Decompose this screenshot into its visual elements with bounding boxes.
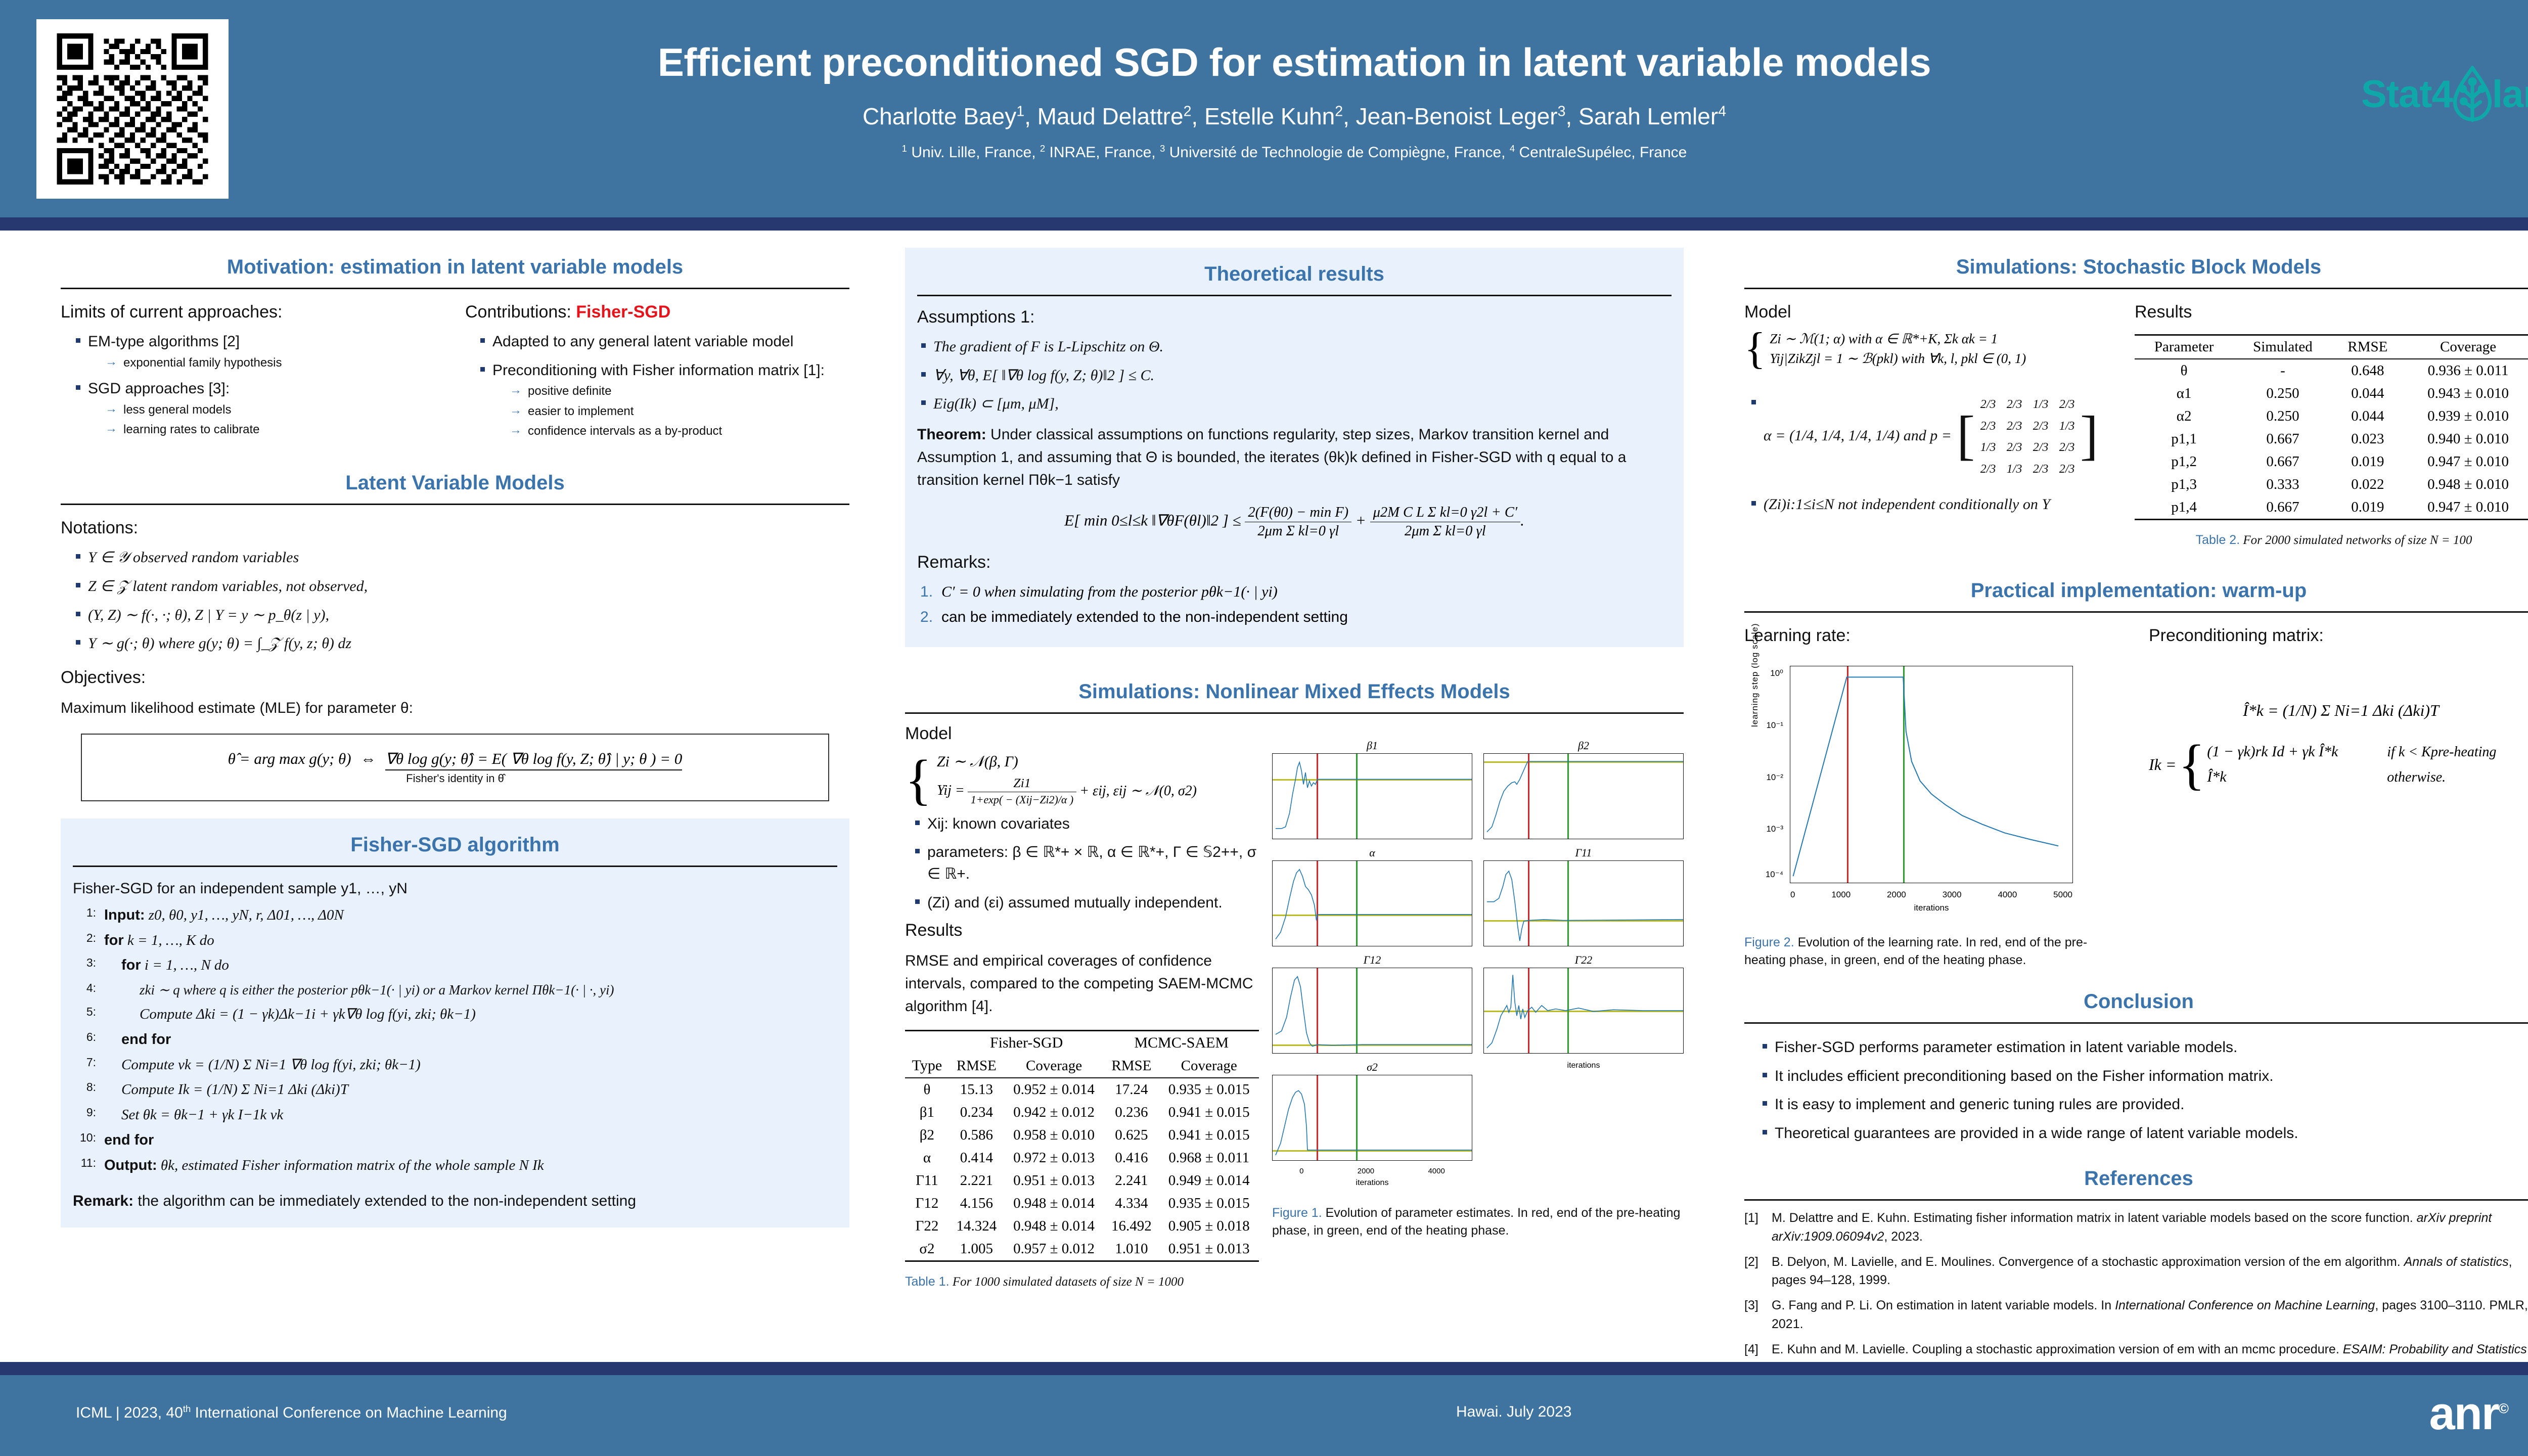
table-row: β10.2340.942 ± 0.0120.2360.941 ± 0.015 bbox=[905, 1101, 1259, 1124]
cell: 0.952 ± 0.014 bbox=[1004, 1078, 1104, 1101]
ref-text: B. Delyon, M. Lavielle, and E. Moulines.… bbox=[1772, 1253, 2528, 1290]
line-number: 5: bbox=[73, 1002, 104, 1027]
cell: 1/3 bbox=[2054, 418, 2080, 435]
ref-key: [1] bbox=[1744, 1209, 1772, 1246]
mini-plot-sigma2: σ2 0 2000 bbox=[1272, 1061, 1472, 1161]
col-rmse-2: RMSE bbox=[1104, 1055, 1159, 1078]
col-cov-1: Coverage bbox=[1004, 1055, 1104, 1078]
cell: 15.13 bbox=[949, 1078, 1004, 1101]
leaf-icon bbox=[2450, 66, 2495, 122]
table-row: Γ112.2210.951 ± 0.0132.2410.949 ± 0.014 bbox=[905, 1169, 1259, 1192]
table-row: p1,30.3330.0220.948 ± 0.010 bbox=[2135, 473, 2528, 496]
section-motivation: Motivation: estimation in latent variabl… bbox=[61, 248, 849, 446]
list-item: parameters: β ∈ ℝ*+ × ℝ, α ∈ ℝ*+, Γ ∈ 𝕊2… bbox=[913, 842, 1259, 885]
period: . bbox=[1520, 511, 1524, 529]
cell: 2/3 bbox=[1975, 396, 2001, 413]
column-left: Motivation: estimation in latent variabl… bbox=[61, 248, 849, 1238]
col-rmse: RMSE bbox=[2332, 335, 2404, 359]
cell: 0.019 bbox=[2332, 496, 2404, 520]
x-tick: 4000 bbox=[1428, 1167, 1444, 1175]
eq2-cases: (1 − γk)rk Id + γk Î*k if k < Kpre-heati… bbox=[2207, 743, 2496, 786]
cell: 0.023 bbox=[2332, 428, 2404, 450]
case-row: (1 − γk)rk Id + γk Î*k if k < Kpre-heati… bbox=[2207, 743, 2496, 760]
qr-code-icon bbox=[51, 33, 214, 185]
list-item: Y ∈ 𝒴 observed random variables bbox=[74, 547, 849, 569]
list-item-label: C′ = 0 when simulating from the posterio… bbox=[941, 583, 1278, 600]
cell: p1,3 bbox=[2135, 473, 2233, 496]
list-item: (Zi)i:1≤i≤N not independent conditionall… bbox=[1749, 494, 2118, 516]
cell: 0.019 bbox=[2332, 450, 2404, 473]
contributions-heading: Contributions: Fisher-SGD bbox=[465, 302, 849, 322]
case-expr: (1 − γk)rk Id + γk Î*k bbox=[2207, 743, 2374, 760]
table-2-caption: Table 2. For 2000 simulated networks of … bbox=[2135, 531, 2528, 549]
cell: - bbox=[2233, 359, 2332, 382]
y-tick: 10⁻² bbox=[1766, 772, 1783, 783]
caption-label: Figure 1. bbox=[1272, 1206, 1322, 1220]
plot-area bbox=[1483, 753, 1684, 839]
line-content: zki ∼ q where q is either the posterior … bbox=[104, 978, 837, 1002]
line-number: 7: bbox=[73, 1053, 104, 1078]
objectives-heading: Objectives: bbox=[61, 668, 849, 688]
reference-list: [1]M. Delattre and E. Kuhn. Estimating f… bbox=[1744, 1209, 2528, 1377]
poster-footer: ICML | 2023, 40th International Conferen… bbox=[0, 1375, 2528, 1456]
remarks-heading: Remarks: bbox=[917, 553, 1672, 572]
footer-conference: ICML | 2023, 40th International Conferen… bbox=[76, 1403, 507, 1422]
algorithm-intro: Fisher-SGD for an independent sample y1,… bbox=[73, 877, 837, 900]
cell: 0.667 bbox=[2233, 496, 2332, 520]
pc-heading: Preconditioning matrix: bbox=[2149, 626, 2528, 646]
list-item: C′ = 0 when simulating from the posterio… bbox=[919, 581, 1672, 603]
poster-root: Efficient preconditioned SGD for estimat… bbox=[0, 0, 2528, 1456]
ref-venue: Annals of statistics bbox=[2404, 1255, 2509, 1269]
table-row: θ-0.6480.936 ± 0.011 bbox=[2135, 359, 2528, 382]
section-title-lvm: Latent Variable Models bbox=[61, 464, 849, 504]
caption-text: Evolution of the learning rate. In red, … bbox=[1744, 935, 2087, 967]
cell: 0.414 bbox=[949, 1147, 1004, 1169]
cell: β1 bbox=[905, 1101, 949, 1124]
line-text: z0, θ0, y1, …, yN, r, Δ01, …, Δ0N bbox=[145, 907, 344, 923]
matrix-rows: 2/32/31/32/3 2/32/32/31/3 1/32/32/32/3 bbox=[1975, 393, 2080, 479]
model-line-1: Zi ∼ 𝒩(β, Γ) bbox=[937, 753, 1197, 770]
list-item: Fisher-SGD performs parameter estimation… bbox=[1760, 1037, 2528, 1059]
cell: θ bbox=[2135, 359, 2233, 382]
section-references: References [1]M. Delattre and E. Kuhn. E… bbox=[1744, 1159, 2528, 1377]
learning-rate-panel: Learning rate: learning step (log scale)… bbox=[1744, 626, 2129, 969]
cell: 0.935 ± 0.015 bbox=[1159, 1078, 1259, 1101]
matrix-row: 2/31/32/32/3 bbox=[1975, 458, 2080, 479]
algorithm-line: 6:end for bbox=[73, 1027, 837, 1053]
table-row: Γ2214.3240.948 ± 0.01416.4920.905 ± 0.01… bbox=[905, 1215, 1259, 1238]
nlme-bullets: Xij: known covariates parameters: β ∈ ℝ*… bbox=[913, 813, 1259, 914]
numerator: Zi1 bbox=[968, 776, 1076, 792]
cell: 0.234 bbox=[949, 1101, 1004, 1124]
cell: θ bbox=[905, 1078, 949, 1101]
line-keyword: for bbox=[104, 932, 124, 948]
theorem-text: Under classical assumptions on functions… bbox=[917, 426, 1626, 488]
table-row: α20.2500.0440.939 ± 0.010 bbox=[2135, 405, 2528, 428]
series-line bbox=[1484, 968, 1683, 1053]
list-item: (Zi) and (εi) assumed mutually independe… bbox=[913, 892, 1259, 914]
x-tick: 2000 bbox=[1887, 890, 1906, 900]
x-tick: 5000 bbox=[2053, 890, 2072, 900]
cell: β2 bbox=[905, 1124, 949, 1147]
table-row: Γ124.1560.948 ± 0.0144.3340.935 ± 0.015 bbox=[905, 1192, 1259, 1215]
cell: 2/3 bbox=[2027, 461, 2054, 478]
sbm-model-lines: Zi ∼ ℳ(1; α) with α ∈ ℝ*+K, Σk αk = 1 Yi… bbox=[1770, 331, 2026, 367]
ref-main: M. Delattre and E. Kuhn. Estimating fish… bbox=[1772, 1211, 2417, 1225]
section-algorithm: Fisher-SGD algorithm Fisher-SGD for an i… bbox=[61, 818, 849, 1227]
plot-title: β2 bbox=[1483, 739, 1684, 752]
list-item: α = (1/4, 1/4, 1/4, 1/4) and p = [ 2/32/… bbox=[1749, 393, 2118, 479]
matrix-row: 2/32/31/32/3 bbox=[1975, 393, 2080, 415]
section-lvm: Latent Variable Models Notations: Y ∈ 𝒴 … bbox=[61, 464, 849, 801]
divider bbox=[73, 866, 837, 867]
bound-lhs: E[ min 0≤l≤k ‖∇θF(θl)‖2 ] ≤ bbox=[1064, 511, 1241, 529]
list-item: Z ∈ 𝒵 latent random variables, not obser… bbox=[74, 576, 849, 598]
bound-term-2: μ2M C L Σ kl=0 γ2l + C′ 2μm Σ kl=0 γl bbox=[1370, 505, 1521, 539]
list-item: ∀y, ∀θ, E[ ‖∇θ log f(y, Z; θ)‖2 ] ≤ C. bbox=[919, 365, 1672, 387]
table-row: α10.2500.0440.943 ± 0.010 bbox=[2135, 382, 2528, 405]
cell: 2.241 bbox=[1104, 1169, 1159, 1192]
ref-key: [3] bbox=[1744, 1296, 1772, 1333]
bound-equation: E[ min 0≤l≤k ‖∇θF(θl)‖2 ] ≤ 2(F(θ0) − mi… bbox=[917, 505, 1672, 539]
cell: 0.951 ± 0.013 bbox=[1004, 1169, 1104, 1192]
x-tick: 1000 bbox=[1831, 890, 1850, 900]
eq2-lhs: Ik = bbox=[2149, 755, 2176, 774]
footer-location: Hawai. July 2023 bbox=[1456, 1403, 1571, 1421]
sub-list: exponential family hypothesis bbox=[105, 355, 445, 371]
list-item: Xij: known covariates bbox=[913, 813, 1259, 835]
mle-iff: ⇔ bbox=[355, 750, 381, 768]
alpha-definition: α = (1/4, 1/4, 1/4, 1/4) and p = bbox=[1764, 425, 1952, 447]
x-tick-labels: 0 2000 4000 bbox=[1273, 1167, 1472, 1175]
matrix-row: 2/32/32/31/3 bbox=[1975, 415, 2080, 436]
header-stripe bbox=[0, 217, 2528, 231]
cell: 16.492 bbox=[1104, 1215, 1159, 1238]
cell: 0.941 ± 0.015 bbox=[1159, 1101, 1259, 1124]
cell: 2/3 bbox=[2054, 396, 2080, 413]
results-heading: Results bbox=[905, 921, 1259, 940]
mini-plot-beta2: β2 bbox=[1483, 739, 1684, 839]
denominator: 2μm Σ kl=0 γl bbox=[1370, 522, 1521, 539]
model-line-2-lhs: Yij = bbox=[937, 783, 965, 799]
numerator: 2(F(θ0) − min F) bbox=[1245, 505, 1351, 522]
cell: 1/3 bbox=[2001, 461, 2027, 478]
ref-main: B. Delyon, M. Lavielle, and E. Moulines.… bbox=[1772, 1255, 2404, 1269]
affiliation-list: 1 Univ. Lille, France, 2 INRAE, France, … bbox=[384, 143, 2204, 161]
nlme-left: Model { Zi ∼ 𝒩(β, Γ) Yij = Zi1 1+exp( − … bbox=[905, 724, 1259, 1291]
cell: 0.947 ± 0.010 bbox=[2403, 496, 2528, 520]
table-1: Type Fisher-SGD MCMC-SAEM RMSE Coverage … bbox=[905, 1030, 1259, 1262]
cell: 4.156 bbox=[949, 1192, 1004, 1215]
table-row: Parameter Simulated RMSE Coverage bbox=[2135, 335, 2528, 359]
algorithm-line: 5:Compute Δki = (1 − γk)Δk−1i + γk∇θ log… bbox=[73, 1002, 837, 1027]
caption-label: Table 1. bbox=[905, 1275, 950, 1289]
cell: 2/3 bbox=[2001, 396, 2027, 413]
bracket-right-icon: ] bbox=[2080, 420, 2098, 452]
logo-text-stat4: Stat4 bbox=[2361, 72, 2453, 116]
cell: 2/3 bbox=[2027, 418, 2054, 435]
x-axis-label: iterations bbox=[1484, 1061, 1683, 1070]
cell: 0.236 bbox=[1104, 1101, 1159, 1124]
cell: p1,1 bbox=[2135, 428, 2233, 450]
results-text: RMSE and empirical coverages of confiden… bbox=[905, 949, 1259, 1018]
list-item: The gradient of F is L-Lipschitz on Θ. bbox=[919, 336, 1672, 358]
list-item: [2]B. Delyon, M. Lavielle, and E. Moulin… bbox=[1744, 1253, 2528, 1290]
cell: 2/3 bbox=[2027, 439, 2054, 456]
cell: 0.939 ± 0.010 bbox=[2403, 405, 2528, 428]
cell: 17.24 bbox=[1104, 1078, 1159, 1101]
cell: 0.958 ± 0.010 bbox=[1004, 1124, 1104, 1147]
cell: 0.586 bbox=[949, 1124, 1004, 1147]
brace-icon: { bbox=[905, 759, 932, 801]
objectives-text: Maximum likelihood estimate (MLE) for pa… bbox=[61, 697, 849, 719]
algorithm-line: 8:Compute Ik = (1/N) Σ Ni=1 Δki (Δki)T bbox=[73, 1077, 837, 1103]
cell: 0.250 bbox=[2233, 405, 2332, 428]
y-tick: 10⁻⁴ bbox=[1766, 870, 1783, 880]
cell: 0.625 bbox=[1104, 1124, 1159, 1147]
denominator: 1+exp( − (Xij−Zi2)/α ) bbox=[968, 792, 1076, 806]
col-group-mcmc: MCMC-SAEM bbox=[1104, 1031, 1259, 1055]
algorithm-line: 9:Set θk = θk−1 + γk I−1k vk bbox=[73, 1103, 837, 1128]
limits-heading: Limits of current approaches: bbox=[61, 302, 445, 322]
cell: 1.005 bbox=[949, 1238, 1004, 1261]
cell: 0.951 ± 0.013 bbox=[1159, 1238, 1259, 1261]
mini-plot-beta1: β1 bbox=[1272, 739, 1472, 839]
figure-1-grid: β1 β2 bbox=[1272, 739, 1684, 1161]
list-item-label: Preconditioning with Fisher information … bbox=[492, 362, 825, 379]
cell: p1,4 bbox=[2135, 496, 2233, 520]
bound-term-1: 2(F(θ0) − min F) 2μm Σ kl=0 γl bbox=[1245, 505, 1351, 539]
mini-plot-gamma22: Γ22 iterations bbox=[1483, 953, 1684, 1054]
series-line bbox=[1484, 861, 1683, 946]
y-tick: 10⁻¹ bbox=[1766, 720, 1783, 731]
list-item: Theoretical guarantees are provided in a… bbox=[1760, 1123, 2528, 1145]
cell: 0.667 bbox=[2233, 428, 2332, 450]
bracket-left-icon: [ bbox=[1957, 420, 1975, 452]
x-tick: 4000 bbox=[1998, 890, 2017, 900]
caption-label: Figure 2. bbox=[1744, 935, 1794, 949]
notations-heading: Notations: bbox=[61, 518, 849, 538]
table-row: β20.5860.958 ± 0.0100.6250.941 ± 0.015 bbox=[905, 1124, 1259, 1147]
section-title-sbm: Simulations: Stochastic Block Models bbox=[1744, 248, 2528, 288]
figure-2-plot: learning step (log scale) 10⁰ 10⁻¹ 10⁻² … bbox=[1790, 666, 2073, 883]
table-1-caption: Table 1. For 1000 simulated datasets of … bbox=[905, 1273, 1259, 1291]
ref-main: G. Fang and P. Li. On estimation in late… bbox=[1772, 1298, 2115, 1312]
limits-list: EM-type algorithms [2] exponential famil… bbox=[74, 331, 445, 438]
line-content: for i = 1, …, N do bbox=[104, 953, 837, 978]
line-text: k = 1, …, K do bbox=[124, 932, 214, 948]
plot-area bbox=[1483, 860, 1684, 946]
divider bbox=[1744, 611, 2528, 613]
plot-title: Γ11 bbox=[1483, 846, 1684, 859]
table-row: p1,40.6670.0190.947 ± 0.010 bbox=[2135, 496, 2528, 520]
cell: 0.905 ± 0.018 bbox=[1159, 1215, 1259, 1238]
cell: 2/3 bbox=[1975, 461, 2001, 478]
cell: 0.948 ± 0.014 bbox=[1004, 1215, 1104, 1238]
plot-title: σ2 bbox=[1272, 1061, 1472, 1074]
sbm-results: Results Parameter Simulated RMSE Coverag… bbox=[2135, 302, 2528, 549]
series-line bbox=[1273, 1075, 1472, 1160]
col-group-fisher: Fisher-SGD bbox=[949, 1031, 1104, 1055]
conclusion-list: Fisher-SGD performs parameter estimation… bbox=[1760, 1037, 2528, 1144]
plot-title: Γ22 bbox=[1483, 953, 1684, 967]
limits-panel: Limits of current approaches: EM-type al… bbox=[61, 302, 445, 446]
list-item: confidence intervals as a by-product bbox=[510, 423, 849, 439]
qr-code[interactable] bbox=[36, 19, 229, 199]
figure-1-caption: Figure 1. Evolution of parameter estimat… bbox=[1272, 1204, 1684, 1240]
footer-stripe bbox=[0, 1362, 2528, 1375]
cell: Γ12 bbox=[905, 1192, 949, 1215]
plot-title: β1 bbox=[1272, 739, 1472, 752]
x-tick: 0 bbox=[1299, 1167, 1303, 1175]
contributions-list: Adapted to any general latent variable m… bbox=[478, 331, 849, 439]
col-coverage: Coverage bbox=[2403, 335, 2528, 359]
sub-list: positive definite easier to implement co… bbox=[510, 383, 849, 439]
author-list: Charlotte Baey1, Maud Delattre2, Estelle… bbox=[384, 103, 2204, 130]
list-item: (Y, Z) ∼ f(·, ·; θ), Z | Y = y ∼ p_θ(z |… bbox=[74, 605, 849, 626]
model-fraction: Zi1 1+exp( − (Xij−Zi2)/α ) bbox=[968, 776, 1076, 806]
table-row: σ21.0050.957 ± 0.0121.0100.951 ± 0.013 bbox=[905, 1238, 1259, 1261]
list-item: less general models bbox=[105, 402, 445, 418]
list-item: EM-type algorithms [2] exponential famil… bbox=[74, 331, 445, 371]
cell: 0.044 bbox=[2332, 405, 2404, 428]
column-middle: Theoretical results Assumptions 1: The g… bbox=[905, 248, 1684, 1301]
col-rmse-1: RMSE bbox=[949, 1055, 1004, 1078]
sub-list: less general models learning rates to ca… bbox=[105, 402, 445, 438]
x-axis-label: iterations bbox=[1790, 903, 2072, 913]
brace-icon: { bbox=[1744, 333, 1766, 365]
cell: 0.957 ± 0.012 bbox=[1004, 1238, 1104, 1261]
cell: α2 bbox=[2135, 405, 2233, 428]
line-content: Compute vk = (1/N) Σ Ni=1 ∇θ log f(yi, z… bbox=[104, 1053, 837, 1078]
list-item: exponential family hypothesis bbox=[105, 355, 445, 371]
precond-equation-1: Î*k = (1/N) Σ Ni=1 Δki (Δki)T bbox=[2149, 701, 2528, 720]
cell: 2/3 bbox=[1975, 418, 2001, 435]
cell: 2/3 bbox=[2054, 439, 2080, 456]
cell: Γ22 bbox=[905, 1215, 949, 1238]
cell: 1/3 bbox=[2027, 396, 2054, 413]
x-tick: 0 bbox=[1790, 890, 1795, 900]
contributions-highlight: Fisher-SGD bbox=[576, 302, 670, 322]
theorem-paragraph: Theorem: Under classical assumptions on … bbox=[917, 423, 1672, 491]
plot-area bbox=[1272, 860, 1472, 946]
notations-list: Y ∈ 𝒴 observed random variables Z ∈ 𝒵 la… bbox=[74, 547, 849, 654]
cell: σ2 bbox=[905, 1238, 949, 1261]
model-line-2: Yij|ZikZjl = 1 ∼ ℬ(pkl) with ∀k, l, pkl … bbox=[1770, 351, 2026, 367]
cell: Γ11 bbox=[905, 1169, 949, 1192]
list-item: Adapted to any general latent variable m… bbox=[478, 331, 849, 353]
line-keyword: Input: bbox=[104, 907, 145, 923]
cell: 0.022 bbox=[2332, 473, 2404, 496]
page-title: Efficient preconditioned SGD for estimat… bbox=[384, 40, 2204, 84]
theorem-label: Theorem: bbox=[917, 426, 986, 443]
col-type: Type bbox=[905, 1031, 949, 1078]
list-item-label: (Zi)i:1≤i≤N not independent conditionall… bbox=[1764, 496, 2050, 513]
table-row: α0.4140.972 ± 0.0130.4160.968 ± 0.011 bbox=[905, 1147, 1259, 1169]
divider bbox=[917, 295, 1672, 296]
cell: 0.942 ± 0.012 bbox=[1004, 1101, 1104, 1124]
section-title-practical: Practical implementation: warm-up bbox=[1744, 571, 2528, 611]
cell: 0.941 ± 0.015 bbox=[1159, 1124, 1259, 1147]
plot-area: iterations bbox=[1483, 968, 1684, 1054]
line-content: end for bbox=[104, 1027, 837, 1053]
table-2-head: Parameter Simulated RMSE Coverage bbox=[2135, 335, 2528, 359]
divider bbox=[905, 712, 1684, 714]
model-equations: { Zi ∼ 𝒩(β, Γ) Yij = Zi1 1+exp( − (Xij−Z… bbox=[905, 753, 1259, 806]
cell: 0.935 ± 0.015 bbox=[1159, 1192, 1259, 1215]
ref-venue: International Conference on Machine Lear… bbox=[2115, 1298, 2375, 1312]
model-lines: Zi ∼ 𝒩(β, Γ) Yij = Zi1 1+exp( − (Xij−Zi2… bbox=[937, 753, 1197, 806]
column-right: Simulations: Stochastic Block Models Mod… bbox=[1744, 248, 2528, 1387]
algorithm-line: 7:Compute vk = (1/N) Σ Ni=1 ∇θ log f(yi,… bbox=[73, 1053, 837, 1078]
divider bbox=[1744, 288, 2528, 289]
mini-plot-gamma12: Γ12 bbox=[1272, 953, 1472, 1054]
section-title-conclusion: Conclusion bbox=[1744, 982, 2528, 1022]
table-row: Type Fisher-SGD MCMC-SAEM bbox=[905, 1031, 1259, 1055]
list-item-label: SGD approaches [3]: bbox=[88, 380, 230, 397]
list-item-label: Eig(Ik) ⊂ [μm, μM], bbox=[933, 395, 1059, 412]
case-expr: Î*k bbox=[2207, 768, 2374, 786]
series-line bbox=[1273, 754, 1472, 839]
line-content: for k = 1, …, K do bbox=[104, 928, 837, 953]
mle-rhs: ∇θ log g(y; θ̂) = E( ∇θ log f(y, Z; θ̂) … bbox=[385, 750, 682, 770]
cell: 1/3 bbox=[1975, 439, 2001, 456]
figure-2-caption: Figure 2. Evolution of the learning rate… bbox=[1744, 934, 2129, 969]
table-row: p1,10.6670.0230.940 ± 0.010 bbox=[2135, 428, 2528, 450]
table-row: θ15.130.952 ± 0.01417.240.935 ± 0.015 bbox=[905, 1078, 1259, 1101]
mle-under-caption: Fisher's identity in θ̂ bbox=[95, 772, 815, 785]
line-content: Compute Δki = (1 − γk)Δk−1i + γk∇θ log f… bbox=[104, 1002, 837, 1027]
list-item-label: EM-type algorithms [2] bbox=[88, 333, 240, 350]
list-item: [3]G. Fang and P. Li. On estimation in l… bbox=[1744, 1296, 2528, 1333]
sbm-model-equations: { Zi ∼ ℳ(1; α) with α ∈ ℝ*+K, Σk αk = 1 … bbox=[1744, 331, 2118, 367]
list-item: It is easy to implement and generic tuni… bbox=[1760, 1094, 2528, 1116]
cell: 0.948 ± 0.014 bbox=[1004, 1192, 1104, 1215]
section-theory: Theoretical results Assumptions 1: The g… bbox=[905, 248, 1684, 647]
case-cond: if k < Kpre-heating bbox=[2387, 744, 2496, 760]
cell: 0.968 ± 0.011 bbox=[1159, 1147, 1259, 1169]
line-number: 8: bbox=[73, 1077, 104, 1103]
x-tick-labels: 0 1000 2000 3000 4000 5000 bbox=[1790, 890, 2072, 900]
y-tick: 10⁻³ bbox=[1766, 824, 1783, 834]
table-1-head: Type Fisher-SGD MCMC-SAEM RMSE Coverage … bbox=[905, 1031, 1259, 1078]
logo-text-lant: lant bbox=[2492, 72, 2528, 116]
cell: 0.250 bbox=[2233, 382, 2332, 405]
assumptions-list: The gradient of F is L-Lipschitz on Θ. ∀… bbox=[919, 336, 1672, 415]
line-content: Input: z0, θ0, y1, …, yN, r, Δ01, …, Δ0N bbox=[104, 903, 837, 928]
cell: 0.044 bbox=[2332, 382, 2404, 405]
x-tick: 2000 bbox=[1358, 1167, 1374, 1175]
divider bbox=[1744, 1022, 2528, 1024]
model-line-1: Zi ∼ ℳ(1; α) with α ∈ ℝ*+K, Σk αk = 1 bbox=[1770, 331, 2026, 347]
divider bbox=[1744, 1199, 2528, 1201]
ref-tail: , 2023. bbox=[1884, 1230, 1922, 1244]
series-line bbox=[1790, 666, 2072, 883]
algorithm-listing: Fisher-SGD for an independent sample y1,… bbox=[73, 877, 837, 1212]
precond-equation-2: Ik = { (1 − γk)rk Id + γk Î*k if k < Kpr… bbox=[2149, 743, 2528, 786]
section-conclusion: Conclusion Fisher-SGD performs parameter… bbox=[1744, 982, 2528, 1144]
section-title-nlme: Simulations: Nonlinear Mixed Effects Mod… bbox=[905, 672, 1684, 712]
section-nlme: Simulations: Nonlinear Mixed Effects Mod… bbox=[905, 672, 1684, 1291]
ref-text: M. Delattre and E. Kuhn. Estimating fish… bbox=[1772, 1209, 2528, 1246]
algorithm-line: 11:Output: θk, estimated Fisher informat… bbox=[73, 1153, 837, 1178]
list-item: SGD approaches [3]: less general models … bbox=[74, 378, 445, 438]
cell: p1,2 bbox=[2135, 450, 2233, 473]
section-sbm: Simulations: Stochastic Block Models Mod… bbox=[1744, 248, 2528, 549]
line-number: 6: bbox=[73, 1027, 104, 1053]
divider bbox=[61, 288, 849, 289]
